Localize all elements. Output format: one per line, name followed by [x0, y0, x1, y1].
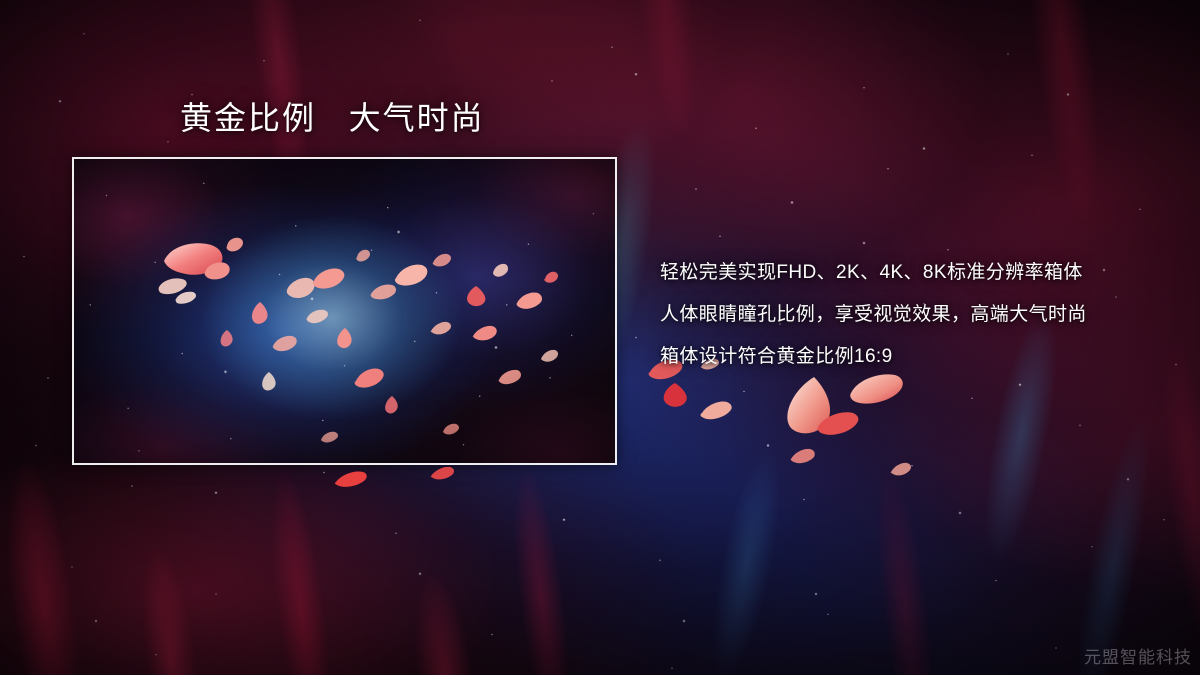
- presentation-slide: 黄金比例 大气时尚: [0, 0, 1200, 675]
- slide-title: 黄金比例 大气时尚: [180, 100, 485, 137]
- preview-image: [74, 159, 615, 463]
- flower-petal-icon: [890, 462, 912, 478]
- flower-petal-icon: [700, 400, 734, 420]
- flower-petal-icon: [334, 470, 368, 488]
- body-line-3: 箱体设计符合黄金比例16:9: [660, 336, 1180, 378]
- flower-petal-icon: [816, 410, 860, 436]
- preview-image-frame: [72, 157, 617, 465]
- flower-petal-icon: [790, 448, 816, 466]
- body-copy: 轻松完美实现FHD、2K、4K、8K标准分辨率箱体 人体眼睛瞳孔比例，享受视觉效…: [660, 252, 1180, 378]
- flower-petal-icon: [660, 382, 690, 408]
- watermark: 元盟智能科技: [1084, 643, 1192, 668]
- body-line-2: 人体眼睛瞳孔比例，享受视觉效果，高端大气时尚: [660, 294, 1180, 336]
- body-line-1: 轻松完美实现FHD、2K、4K、8K标准分辨率箱体: [660, 252, 1180, 294]
- flower-petal-icon: [430, 466, 456, 482]
- flower-petal-icon: [784, 376, 834, 436]
- preview-starfield: [74, 159, 615, 463]
